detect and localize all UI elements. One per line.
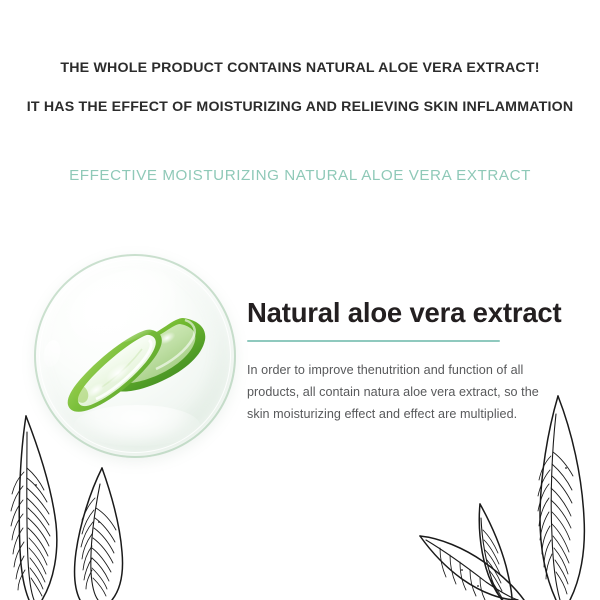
feature-description: In order to improve thenutrition and fun… <box>247 359 539 425</box>
headline-primary: THE WHOLE PRODUCT CONTAINS NATURAL ALOE … <box>0 58 600 78</box>
sphere-highlight-bottom <box>74 405 199 446</box>
feature-block: Natural aloe vera extract In order to im… <box>247 296 577 425</box>
headline-secondary: IT HAS THE EFFECT OF MOISTURIZING AND RE… <box>0 97 600 117</box>
feature-title: Natural aloe vera extract <box>247 296 577 330</box>
aloe-gel-sphere <box>34 254 236 458</box>
subheadline: EFFECTIVE MOISTURIZING NATURAL ALOE VERA… <box>0 167 600 184</box>
aloe-vera-product-poster: THE WHOLE PRODUCT CONTAINS NATURAL ALOE … <box>0 0 600 600</box>
header-block: THE WHOLE PRODUCT CONTAINS NATURAL ALOE … <box>0 58 600 117</box>
title-divider <box>247 340 500 342</box>
